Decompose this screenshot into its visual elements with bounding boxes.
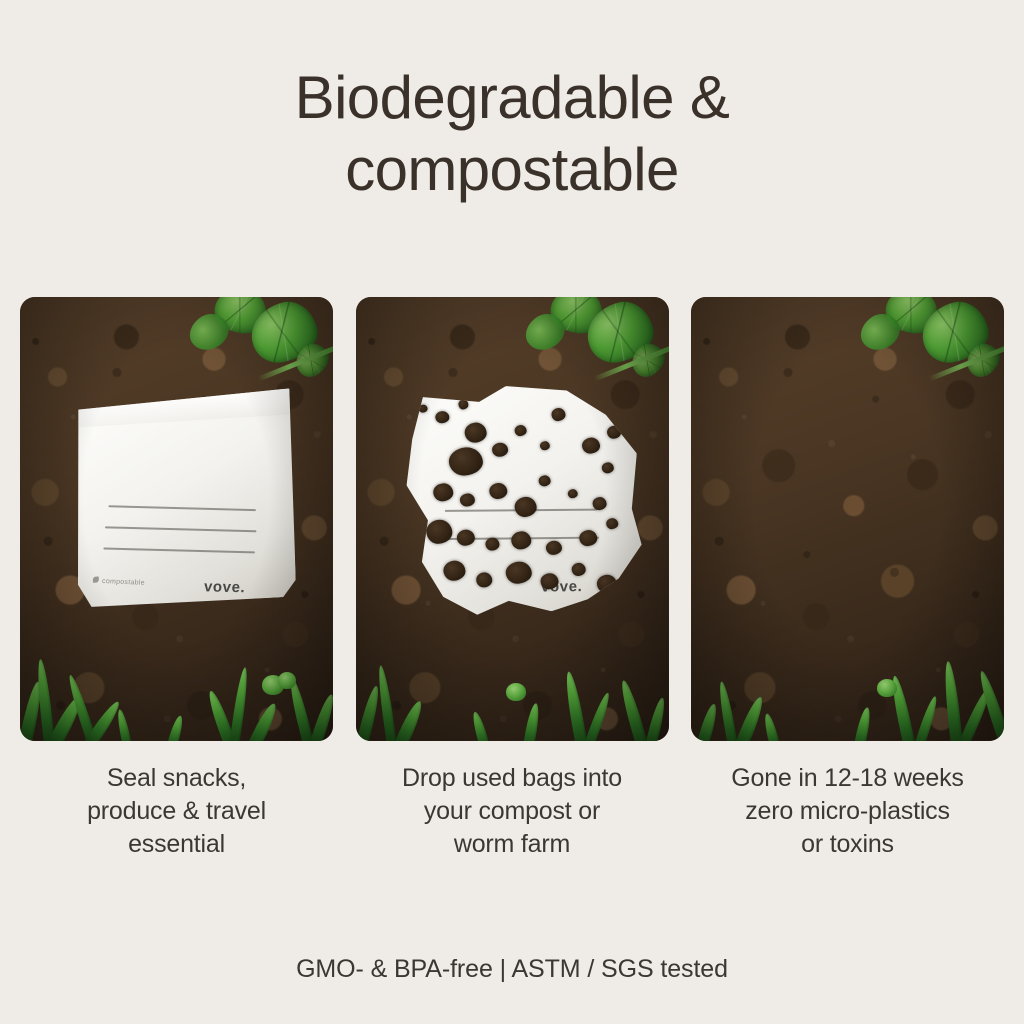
caption-line: zero micro-plastics bbox=[691, 795, 1004, 828]
caption-line: worm farm bbox=[356, 828, 669, 861]
panel-gallery: compostable vove. bbox=[20, 297, 1004, 741]
caption-line: essential bbox=[20, 828, 333, 861]
page-title: Biodegradable & compostable bbox=[0, 62, 1024, 206]
caption-panel-2: Drop used bags into your compost or worm… bbox=[356, 762, 669, 861]
certification-footer: GMO- & BPA-free | ASTM / SGS tested bbox=[0, 955, 1024, 984]
caption-line: Seal snacks, bbox=[20, 762, 333, 795]
panel-vignette bbox=[691, 297, 1004, 741]
caption-line: Gone in 12-18 weeks bbox=[691, 762, 1004, 795]
panel-vignette bbox=[20, 297, 333, 741]
caption-line: your compost or bbox=[356, 795, 669, 828]
panel-soil-only bbox=[691, 297, 1004, 741]
panel-bag-intact: compostable vove. bbox=[20, 297, 333, 741]
caption-line: or toxins bbox=[691, 828, 1004, 861]
caption-line: produce & travel bbox=[20, 795, 333, 828]
page-title-line-1: Biodegradable & bbox=[0, 62, 1024, 134]
caption-row: Seal snacks, produce & travel essential … bbox=[20, 762, 1004, 861]
panel-bag-degrading: vove. bbox=[356, 297, 669, 741]
caption-line: Drop used bags into bbox=[356, 762, 669, 795]
caption-panel-1: Seal snacks, produce & travel essential bbox=[20, 762, 333, 861]
panel-vignette bbox=[356, 297, 669, 741]
caption-panel-3: Gone in 12-18 weeks zero micro-plastics … bbox=[691, 762, 1004, 861]
page-title-line-2: compostable bbox=[0, 134, 1024, 206]
